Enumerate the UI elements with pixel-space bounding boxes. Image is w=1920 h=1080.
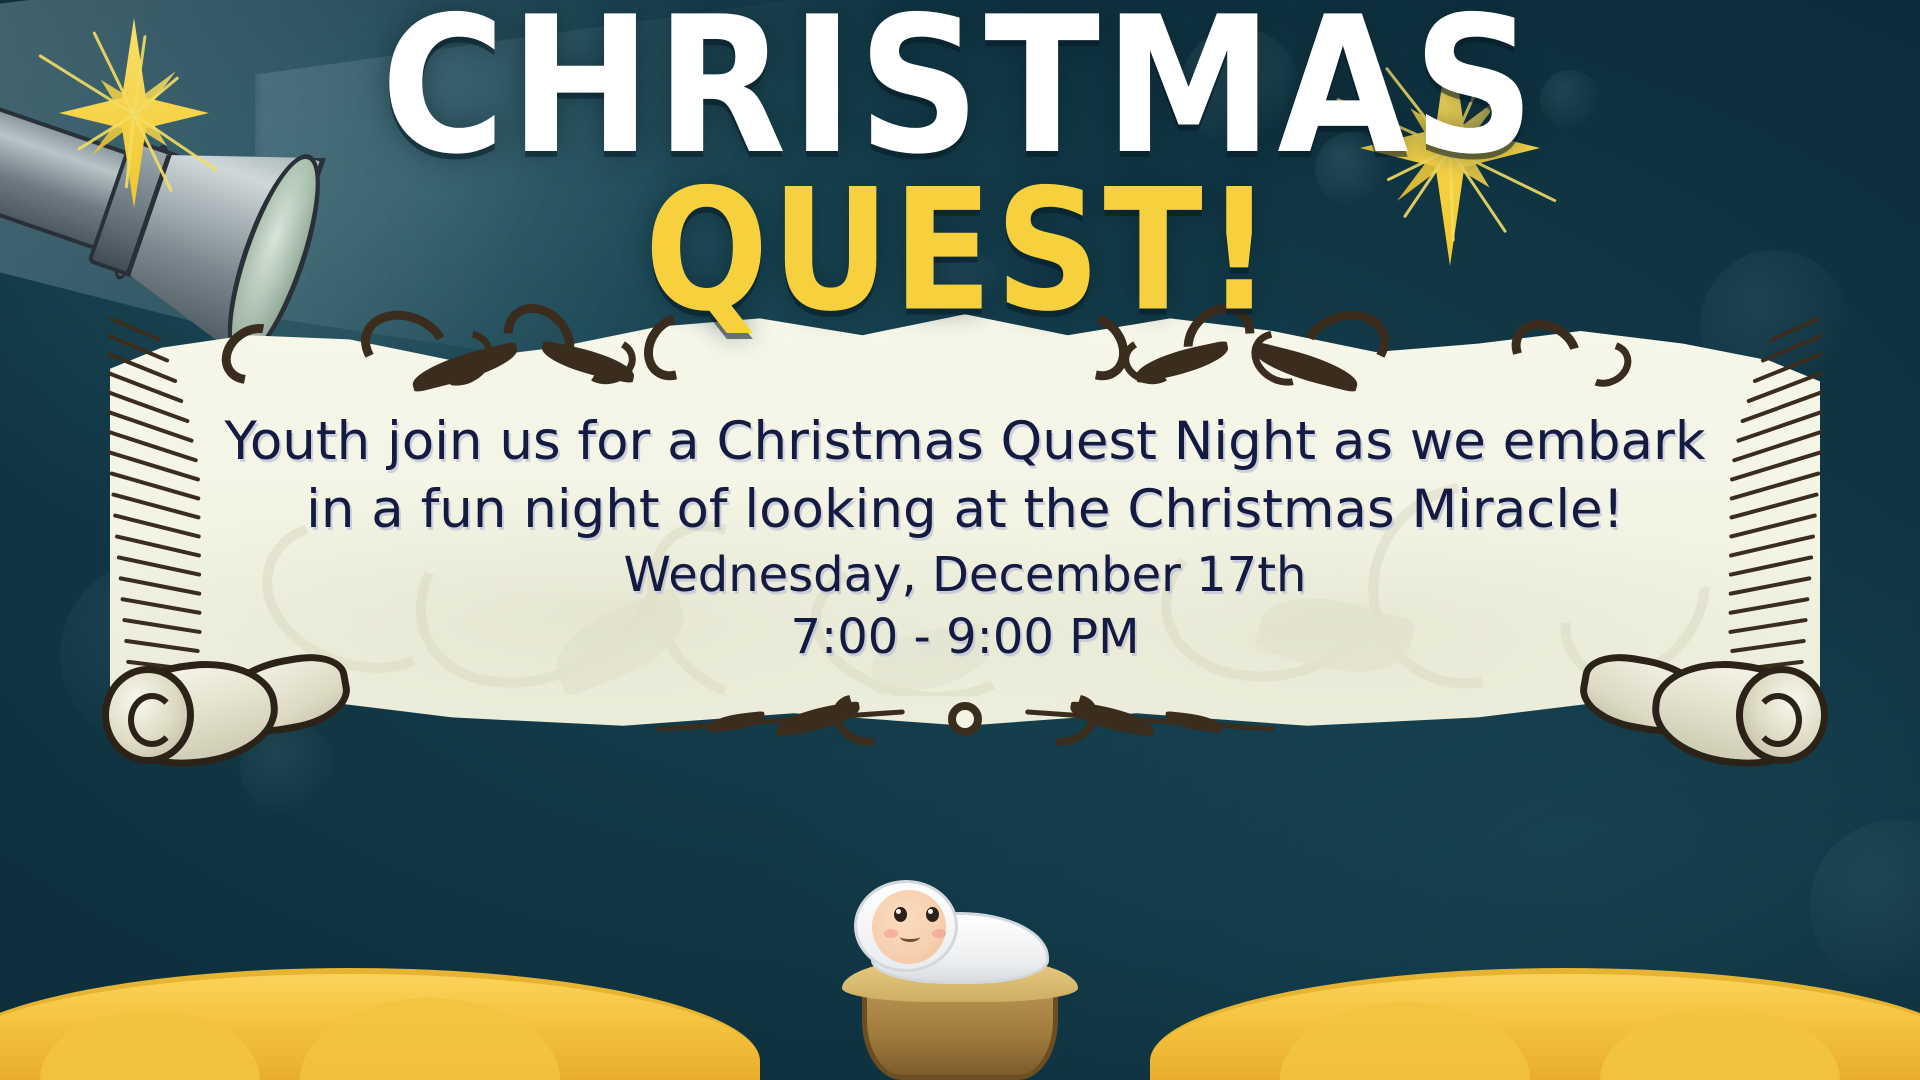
event-details-text: Youth join us for a Christmas Quest Nigh… (210, 408, 1720, 668)
flourish-leaf (706, 711, 765, 733)
baby-mouth (900, 932, 920, 942)
event-text-line-2: in a fun night of looking at the Christm… (210, 476, 1720, 544)
ornamental-flourish-bottom (655, 684, 1275, 754)
flourish-leaf (1164, 711, 1223, 733)
event-time: 7:00 - 9:00 PM (210, 606, 1720, 668)
baby-eye-right (926, 907, 939, 922)
event-text-line-1: Youth join us for a Christmas Quest Nigh… (210, 408, 1720, 476)
baby-face (872, 890, 946, 964)
title-line-quest: QUEST! (0, 172, 1920, 332)
scroll-roll-cap (1736, 666, 1828, 764)
baby-eye-left (894, 907, 907, 922)
poster-canvas: CHRISTMAS QUEST! (0, 0, 1920, 1080)
baby-cheek-left (884, 929, 898, 938)
baby-jesus-manger-icon (810, 910, 1110, 1080)
event-date: Wednesday, December 17th (210, 544, 1720, 606)
scroll-roll-cap (102, 666, 194, 764)
poster-title: CHRISTMAS QUEST! (0, 0, 1920, 318)
baby-cheek-right (932, 929, 946, 938)
title-line-christmas: CHRISTMAS (0, 0, 1920, 172)
flourish-ring (948, 702, 982, 736)
